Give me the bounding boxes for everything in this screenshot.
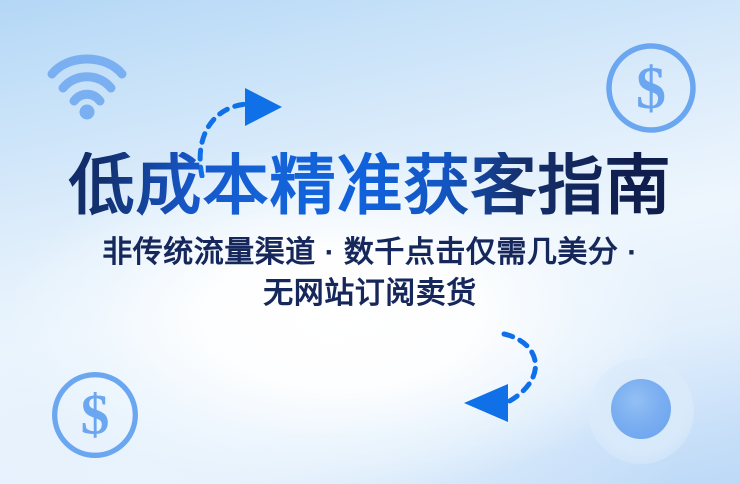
page-title: 低成本精准获客指南 <box>0 152 740 218</box>
dollar-circle-icon: $ <box>601 38 701 138</box>
poster-canvas: $ $ 低成本精准获客指南 非传统流量渠道 · 数千点击仅需几美分 · 无网站订… <box>0 0 740 484</box>
subtitle: 非传统流量渠道 · 数千点击仅需几美分 · 无网站订阅卖货 <box>50 232 690 315</box>
subtitle-line-2: 无网站订阅卖货 <box>50 273 690 314</box>
blue-dot-icon <box>611 379 671 439</box>
headline-block: 低成本精准获客指南 非传统流量渠道 · 数千点击仅需几美分 · 无网站订阅卖货 <box>0 152 740 315</box>
dashed-curved-arrow-left-icon <box>442 330 562 430</box>
dot-halo <box>588 358 694 464</box>
subtitle-line-1: 非传统流量渠道 · 数千点击仅需几美分 · <box>50 232 690 273</box>
svg-text:$: $ <box>81 384 110 447</box>
svg-text:$: $ <box>636 55 666 121</box>
dollar-circle-icon: $ <box>47 367 143 463</box>
wifi-icon <box>44 44 130 122</box>
